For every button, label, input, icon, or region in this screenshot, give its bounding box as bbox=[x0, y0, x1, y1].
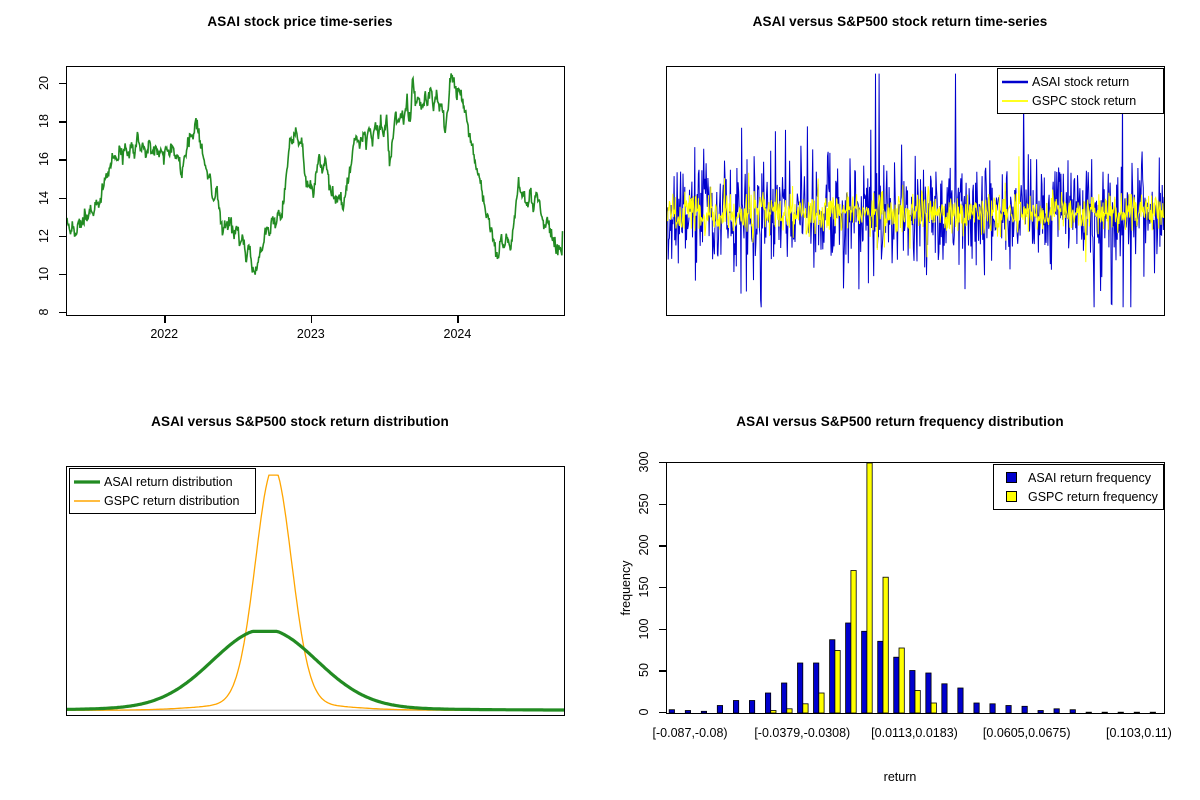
price-y-tick bbox=[59, 198, 66, 199]
histogram-x-label: [-0.0379,-0.0308) bbox=[754, 726, 850, 740]
histogram-y-tick bbox=[659, 545, 666, 546]
price-line-chart bbox=[67, 67, 564, 315]
histogram-x-label: [-0.087,-0.08) bbox=[653, 726, 728, 740]
histogram-y-axis-title: frequency bbox=[619, 548, 633, 628]
panel-stock-price: ASAI stock price time-series 81012141618… bbox=[0, 0, 600, 400]
histogram-y-label: 250 bbox=[637, 492, 651, 516]
legend-item-asai-return-frequency: ASAI return frequency bbox=[994, 468, 1163, 487]
histogram-y-label: 0 bbox=[637, 700, 651, 724]
histogram-y-label: 100 bbox=[637, 617, 651, 641]
return-ts-legend: ASAI stock return GSPC stock return bbox=[997, 68, 1164, 114]
histogram-y-tick bbox=[659, 712, 666, 713]
histogram-y-label: 200 bbox=[637, 533, 651, 557]
panel-price-title: ASAI stock price time-series bbox=[0, 14, 600, 29]
price-y-label: 14 bbox=[37, 186, 51, 210]
asai-density-line-swatch bbox=[70, 477, 104, 487]
legend-label-gspc-stock-return: GSPC stock return bbox=[1032, 94, 1136, 108]
histogram-y-label: 300 bbox=[637, 450, 651, 474]
price-x-label: 2023 bbox=[297, 327, 325, 341]
panel-return-frequency: ASAI versus S&P500 return frequency dist… bbox=[600, 400, 1200, 800]
legend-item-gspc-return-distribution: GSPC return distribution bbox=[70, 491, 255, 510]
density-legend: ASAI return distribution GSPC return dis… bbox=[69, 468, 256, 514]
histogram-y-label: 150 bbox=[637, 575, 651, 599]
asai-frequency-square-swatch bbox=[994, 472, 1028, 483]
price-x-tick bbox=[311, 316, 312, 323]
price-y-tick bbox=[59, 236, 66, 237]
figure-grid: ASAI stock price time-series 81012141618… bbox=[0, 0, 1200, 800]
panel-histogram-title: ASAI versus S&P500 return frequency dist… bbox=[600, 414, 1200, 429]
price-y-tick bbox=[59, 121, 66, 122]
legend-label-asai-return-frequency: ASAI return frequency bbox=[1028, 471, 1151, 485]
legend-item-asai-stock-return: ASAI stock return bbox=[998, 72, 1163, 91]
panel-price-plot-frame bbox=[66, 66, 565, 316]
price-y-label: 20 bbox=[37, 71, 51, 95]
histogram-y-tick bbox=[659, 462, 666, 463]
price-x-tick bbox=[457, 316, 458, 323]
histogram-x-axis-title: return bbox=[600, 770, 1200, 784]
price-x-tick bbox=[164, 316, 165, 323]
panel-return-ts-title: ASAI versus S&P500 stock return time-ser… bbox=[600, 14, 1200, 29]
price-y-tick bbox=[59, 312, 66, 313]
histogram-y-tick bbox=[659, 504, 666, 505]
histogram-y-tick bbox=[659, 629, 666, 630]
price-x-label: 2024 bbox=[444, 327, 472, 341]
price-y-label: 10 bbox=[37, 262, 51, 286]
legend-item-gspc-stock-return: GSPC stock return bbox=[998, 91, 1163, 110]
price-y-label: 18 bbox=[37, 109, 51, 133]
price-y-label: 12 bbox=[37, 224, 51, 248]
gspc-density-line-swatch bbox=[70, 496, 104, 506]
asai-return-line-swatch bbox=[998, 77, 1032, 87]
panel-return-timeseries: ASAI versus S&P500 stock return time-ser… bbox=[600, 0, 1200, 400]
histogram-x-label: [0.0605,0.0675) bbox=[983, 726, 1071, 740]
legend-label-asai-return-distribution: ASAI return distribution bbox=[104, 475, 233, 489]
price-y-tick bbox=[59, 83, 66, 84]
legend-item-asai-return-distribution: ASAI return distribution bbox=[70, 472, 255, 491]
price-x-label: 2022 bbox=[150, 327, 178, 341]
gspc-return-line-swatch bbox=[998, 96, 1032, 106]
legend-label-gspc-return-frequency: GSPC return frequency bbox=[1028, 490, 1158, 504]
histogram-y-tick bbox=[659, 670, 666, 671]
legend-label-gspc-return-distribution: GSPC return distribution bbox=[104, 494, 239, 508]
legend-label-asai-stock-return: ASAI stock return bbox=[1032, 75, 1129, 89]
histogram-y-tick bbox=[659, 587, 666, 588]
price-y-label: 8 bbox=[37, 300, 51, 324]
gspc-frequency-square-swatch bbox=[994, 491, 1028, 502]
price-y-tick bbox=[59, 274, 66, 275]
histogram-legend: ASAI return frequency GSPC return freque… bbox=[993, 464, 1164, 510]
histogram-x-label: [0.103,0.11) bbox=[1106, 726, 1172, 740]
panel-return-distribution: ASAI versus S&P500 stock return distribu… bbox=[0, 400, 600, 800]
price-y-label: 16 bbox=[37, 147, 51, 171]
histogram-x-label: [0.0113,0.0183) bbox=[871, 726, 958, 740]
legend-item-gspc-return-frequency: GSPC return frequency bbox=[994, 487, 1163, 506]
histogram-y-label: 50 bbox=[637, 658, 651, 682]
panel-density-title: ASAI versus S&P500 stock return distribu… bbox=[0, 414, 600, 429]
price-y-tick bbox=[59, 159, 66, 160]
